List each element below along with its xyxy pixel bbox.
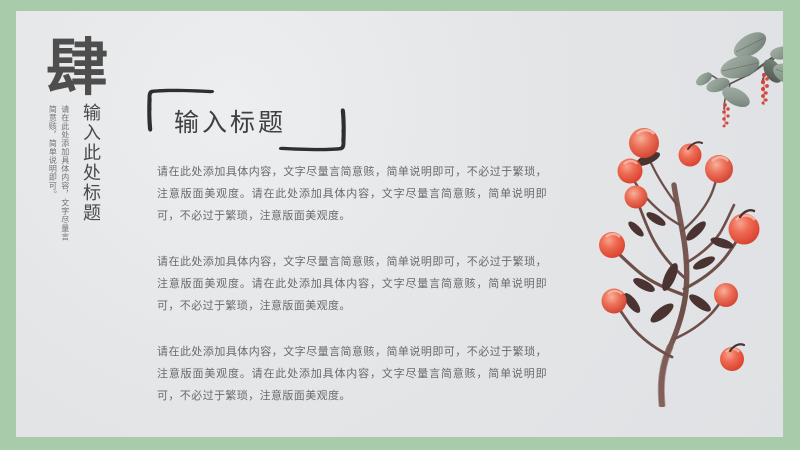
page-title: 输入标题 bbox=[174, 103, 286, 139]
slide-canvas: 肆 输入此处标题 请在此处添加具体内容，文字尽量言简意赅，简单说明即可。 输入标… bbox=[0, 0, 800, 450]
section-numeral: 肆 bbox=[46, 37, 106, 99]
title-block: 输入标题 bbox=[144, 87, 349, 153]
leaf-sprig-illustration bbox=[678, 19, 783, 139]
ink-bracket-bottom-right-icon bbox=[277, 107, 349, 153]
body-copy: 请在此处添加具体内容，文字尽量言简意赅，简单说明即可，不必过于繁琐，注意版面美观… bbox=[157, 161, 547, 407]
slide-inner-panel: 肆 输入此处标题 请在此处添加具体内容，文字尽量言简意赅，简单说明即可。 输入标… bbox=[16, 11, 783, 437]
vertical-section-subtitle: 请在此处添加具体内容，文字尽量言简意赅，简单说明即可。 bbox=[46, 105, 71, 245]
body-paragraph: 请在此处添加具体内容，文字尽量言简意赅，简单说明即可，不必过于繁琐，注意版面美观… bbox=[157, 251, 547, 317]
body-paragraph: 请在此处添加具体内容，文字尽量言简意赅，简单说明即可，不必过于繁琐，注意版面美观… bbox=[157, 161, 547, 227]
vertical-section-title: 输入此处标题 bbox=[77, 103, 103, 223]
body-paragraph: 请在此处添加具体内容，文字尽量言简意赅，简单说明即可，不必过于繁琐，注意版面美观… bbox=[157, 341, 547, 407]
berry-branch-illustration bbox=[544, 107, 783, 407]
